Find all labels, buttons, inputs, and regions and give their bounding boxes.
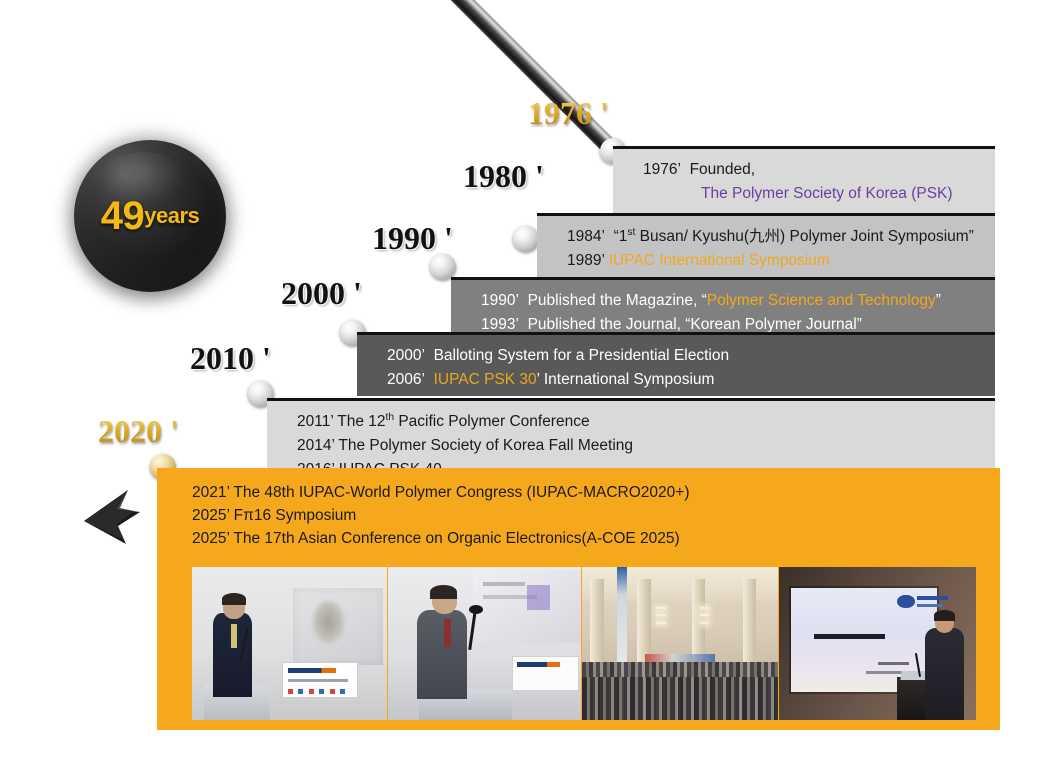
- year-label-2020: 2020 ': [98, 413, 179, 450]
- panel-1976-text-2: The Polymer Society of Korea (PSK): [701, 185, 953, 202]
- orange-line-2: 2025’ Fπ16 Symposium: [192, 505, 1000, 528]
- panel-1976-line-1: 1976’ Founded,: [643, 158, 995, 182]
- panel-1990-text-1b: ”: [936, 292, 941, 309]
- speaker-tie: [444, 619, 451, 647]
- photo-acoe-2026-presentation: [779, 567, 976, 720]
- crowd-front: [582, 677, 778, 720]
- panel-2000-year-2: 2006’: [387, 371, 425, 388]
- panel-2011-year-2: 2014’: [297, 437, 334, 454]
- speaker-body: [417, 610, 467, 699]
- panel-1976-year-1: 1976’: [643, 161, 681, 178]
- panel-1990: 1990’ Published the Magazine, “Polymer S…: [451, 277, 995, 332]
- panel-1990-line-1: 1990’ Published the Magazine, “Polymer S…: [481, 289, 995, 313]
- panel-1984-text-1b: Busan/ Kyushu(九州) Polymer Joint Symposiu…: [635, 228, 974, 245]
- hall-light: [656, 614, 666, 616]
- panel-1990-year-2: 1993’: [481, 316, 519, 332]
- presenter-body: [925, 628, 964, 720]
- panel-2000-text-1: Balloting System for a Presidential Elec…: [434, 347, 730, 364]
- hall-light: [700, 614, 710, 616]
- photo-conference-hall-group: [582, 567, 778, 720]
- presenter-hair: [934, 610, 956, 621]
- panel-1976-text-1: Founded,: [690, 161, 756, 178]
- slide-subtitle-bar: [878, 662, 910, 665]
- panel-1984-year-2: 1989’: [567, 252, 604, 269]
- panel-2000-text-2: ’ International Symposium: [537, 371, 715, 388]
- panel-1976: 1976’ Founded, The Polymer Society of Ko…: [613, 146, 995, 213]
- panel-2011-line-1: 2011’ The 12th Pacific Polymer Conferenc…: [297, 410, 995, 434]
- panel-1984-text-1a: “1: [614, 228, 628, 245]
- speaker-hair: [222, 593, 245, 605]
- panel-1976-line-2: The Polymer Society of Korea (PSK): [643, 182, 995, 206]
- hall-light: [700, 607, 710, 609]
- panel-2000-year-1: 2000’: [387, 347, 425, 364]
- year-label-1990: 1990 ': [372, 220, 453, 257]
- panel-2011-ordinal-sup: th: [386, 412, 395, 423]
- panel-1990-text-1a: Published the Magazine, “: [528, 292, 707, 309]
- photo-iupac-macro-speaker-2: [388, 567, 581, 720]
- banner-title-bar: [288, 668, 337, 673]
- panel-2011-text-1b: Pacific Polymer Conference: [394, 413, 590, 430]
- hall-light: [656, 607, 666, 609]
- panel-2000-accent-2: IUPAC PSK 30: [434, 371, 537, 388]
- panel-1984-line-1: 1984’ “1st Busan/ Kyushu(九州) Polymer Joi…: [567, 225, 995, 249]
- panel-2011-text-2: The Polymer Society of Korea Fall Meetin…: [338, 437, 633, 454]
- slide-graphic: [527, 585, 550, 609]
- timeline-node-1980: [513, 226, 539, 252]
- slide-title-bar: [814, 634, 885, 639]
- panel-1990-line-2: 1993’ Published the Journal, “Korean Pol…: [481, 313, 995, 332]
- banner-subtitle-bar: [288, 679, 348, 682]
- banner-title-bar: [517, 662, 559, 667]
- hall-light: [700, 622, 710, 624]
- panel-2011-year-1: 2011’: [297, 413, 333, 430]
- panel-1990-year-1: 1990’: [481, 292, 519, 309]
- panel-1990-accent-1: Polymer Science and Technology: [707, 292, 936, 309]
- speaker-hair: [430, 585, 457, 599]
- speaker-tie: [231, 624, 237, 648]
- panel-2011-text-1a: The 12: [337, 413, 385, 430]
- photo-strip: [192, 567, 976, 720]
- university-subname-bar: [917, 604, 943, 607]
- panel-2011: 2011’ The 12th Pacific Polymer Conferenc…: [267, 398, 995, 470]
- university-name-bar: [917, 596, 949, 600]
- panel-1984-text-2: IUPAC International Symposium: [609, 252, 830, 269]
- badge-unit: years: [144, 205, 199, 227]
- anniversary-badge-label: 49years: [74, 140, 226, 292]
- banner-sponsor-logos: [288, 689, 350, 694]
- year-label-1976: 1976 ': [528, 95, 609, 132]
- panel-2000-line-1: 2000’ Balloting System for a Presidentia…: [387, 344, 995, 368]
- year-label-2000: 2000 ': [281, 275, 362, 312]
- orange-line-3: 2025’ The 17th Asian Conference on Organ…: [192, 528, 1000, 551]
- panel-1984-year-1: 1984’: [567, 228, 605, 245]
- panel-2000: 2000’ Balloting System for a Presidentia…: [357, 332, 995, 396]
- year-label-2010: 2010 ': [190, 340, 271, 377]
- badge-number: 49: [101, 196, 145, 236]
- orange-line-1: 2021’ The 48th IUPAC-World Polymer Congr…: [192, 482, 1000, 505]
- university-logo: [897, 595, 915, 609]
- hall-light: [656, 622, 666, 624]
- panel-1984: 1984’ “1st Busan/ Kyushu(九州) Polymer Joi…: [537, 213, 995, 277]
- panel-2000-line-2: 2006’ IUPAC PSK 30’ International Sympos…: [387, 368, 995, 392]
- panel-1990-text-2: Published the Journal, “Korean Polymer J…: [528, 316, 862, 332]
- panel-2011-line-2: 2014’ The Polymer Society of Korea Fall …: [297, 434, 995, 458]
- timeline-infographic: 49years 1976 ' 1980 ' 1990 ' 2000 ' 2010…: [0, 0, 1041, 765]
- projected-face: [313, 601, 344, 644]
- year-label-1980: 1980 ': [463, 158, 544, 195]
- slide-line-a: [483, 582, 525, 586]
- photo-iupac-macro-speaker-1: [192, 567, 387, 720]
- panel-1984-line-2: 1989’ IUPAC International Symposium: [567, 249, 995, 273]
